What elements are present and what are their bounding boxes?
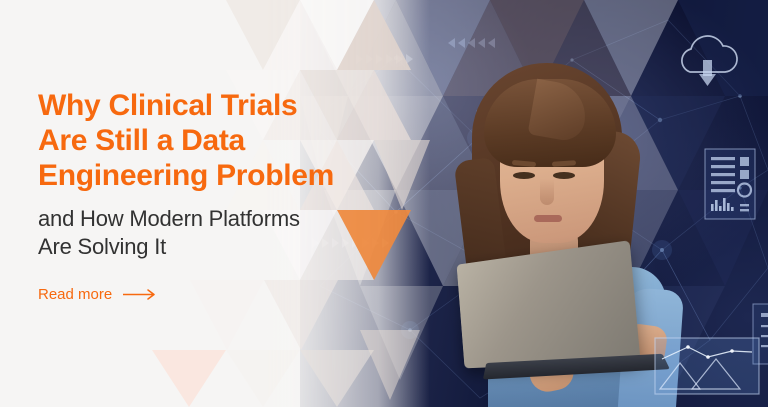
headline-line-3: Engineering Problem bbox=[38, 159, 334, 192]
subhead-line-2: Are Solving It bbox=[38, 234, 166, 259]
arrow-right-icon bbox=[123, 289, 157, 300]
page-subtitle: and How Modern Platforms Are Solving It bbox=[38, 205, 398, 260]
hero-banner: Why Clinical Trials Are Still a Data Eng… bbox=[0, 0, 768, 407]
page-title: Why Clinical Trials Are Still a Data Eng… bbox=[38, 88, 398, 193]
read-more-label: Read more bbox=[38, 286, 112, 303]
subhead-line-1: and How Modern Platforms bbox=[38, 206, 300, 231]
text-content: Why Clinical Trials Are Still a Data Eng… bbox=[38, 88, 398, 304]
headline-line-1: Why Clinical Trials bbox=[38, 89, 297, 122]
headline-line-2: Are Still a Data bbox=[38, 124, 245, 157]
read-more-link[interactable]: Read more bbox=[38, 286, 157, 303]
